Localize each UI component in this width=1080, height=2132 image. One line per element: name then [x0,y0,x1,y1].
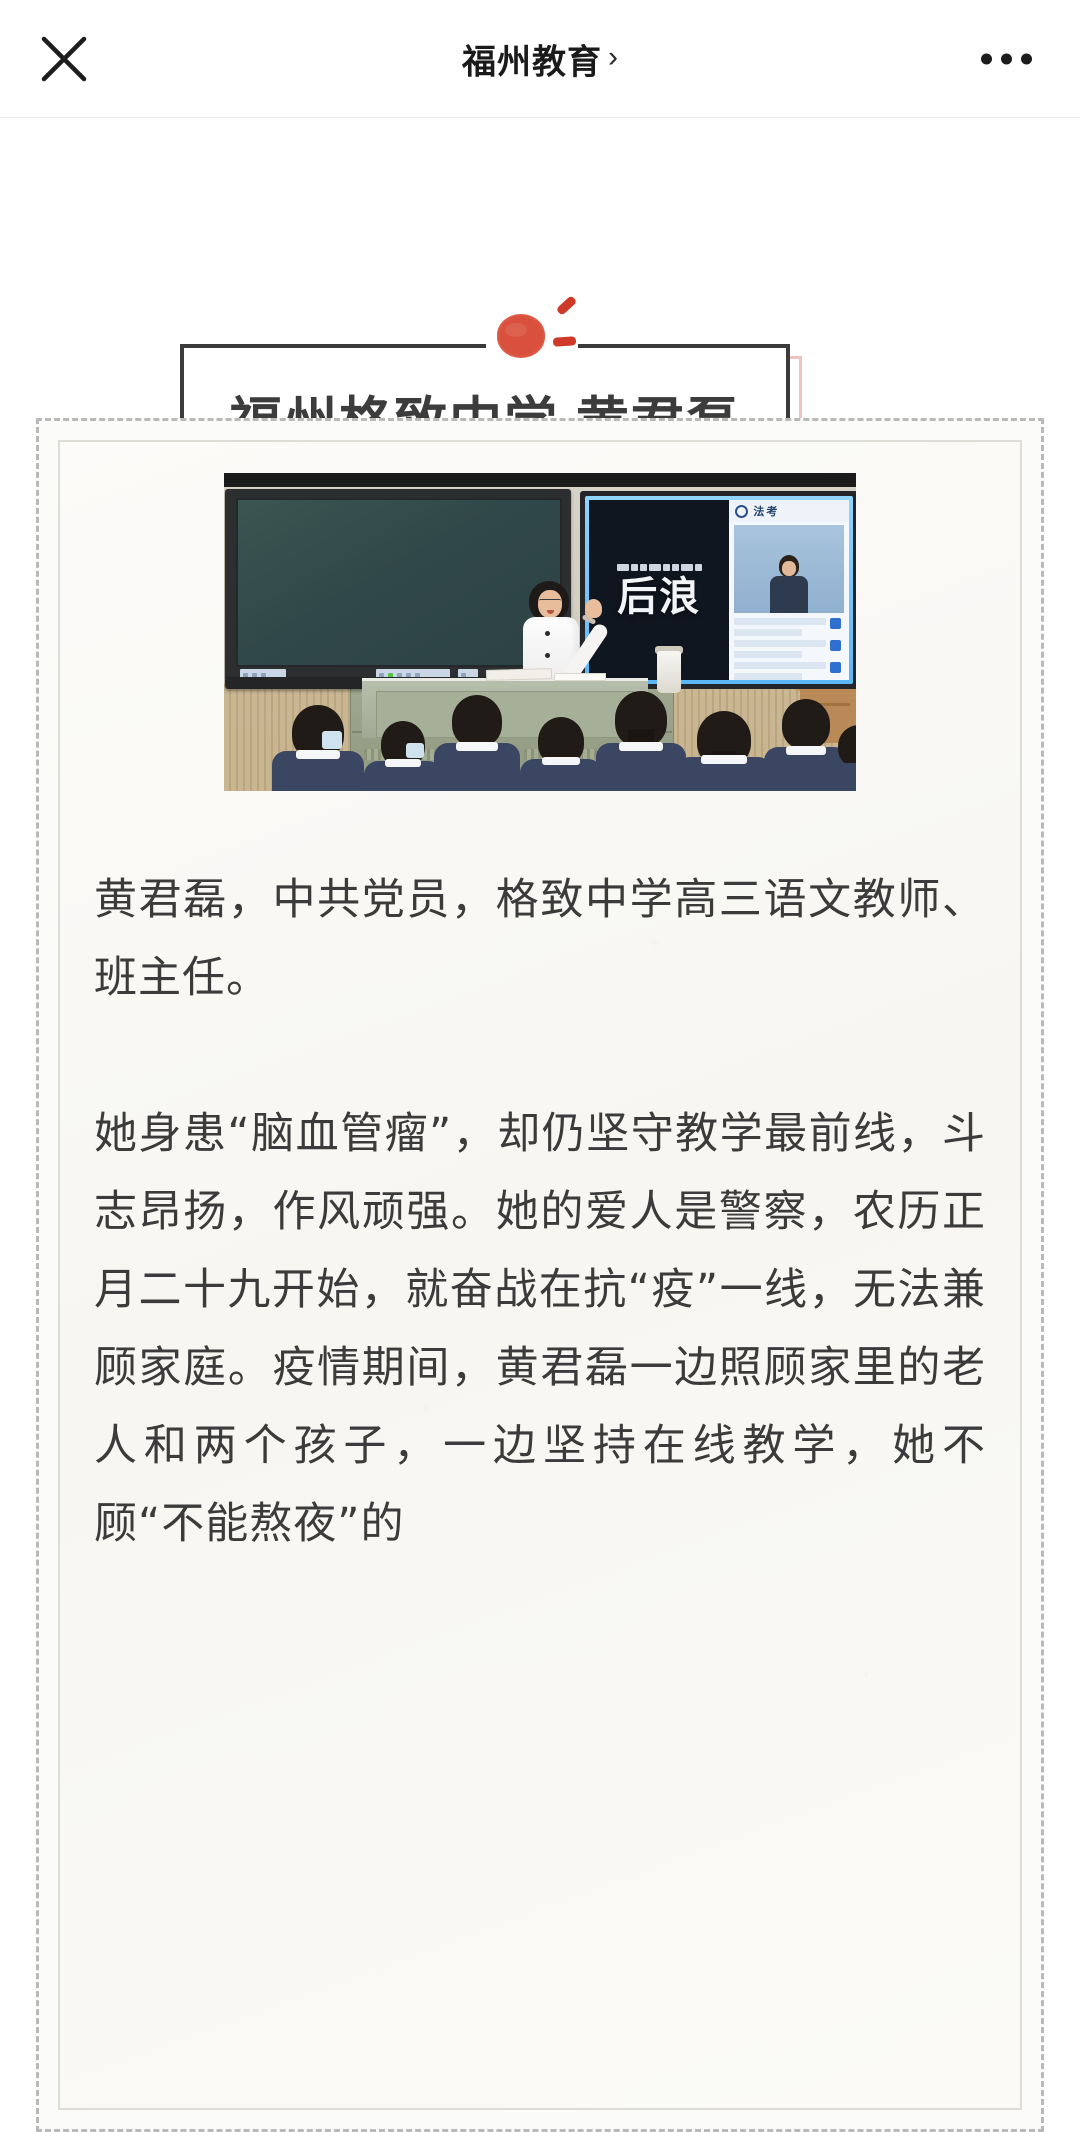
classroom-photo: 后浪 法考 [224,473,856,791]
photo-teacher-button-2 [545,653,550,658]
photo-student [364,721,442,791]
photo-teacher-hand [585,599,602,618]
photo-video-title: 法考 [753,503,779,519]
photo-students [224,679,856,791]
photo-video-thumb [734,525,844,613]
article-card: 后浪 法考 [36,418,1044,2132]
photo-video-pane: 法考 [729,500,849,680]
photo-video-logo-icon [735,505,748,518]
photo-slide-heading: 后浪 [617,577,701,617]
account-name: 福州教育 [462,34,602,83]
heading-block: 福州格致中学 黄君磊 [0,118,1080,420]
wechat-topbar: 福州教育 › [0,0,1080,118]
more-options-icon[interactable] [975,39,1038,78]
photo-slide-subtitle [617,564,702,571]
red-dash-upper-icon [556,295,578,316]
red-blotch-icon [497,314,545,358]
photo-video-header: 法考 [729,500,849,522]
dot-2 [1001,53,1012,64]
photo-student [596,691,686,791]
chevron-right-icon: › [608,43,618,73]
photo-teacher-glasses [539,599,561,604]
photo-student [272,705,364,791]
photo-video-speaker [768,555,810,613]
photo-student [676,711,772,791]
photo-interactive-display: 后浪 法考 [580,491,856,689]
article-card-inner: 后浪 法考 [58,440,1022,2110]
photo-student [824,725,856,791]
photo-video-textlines [734,618,844,676]
red-dash-lower-icon [553,336,577,347]
photo-teacher-button-1 [545,631,550,636]
dot-3 [1021,53,1032,64]
article-paragraph-1: 黄君磊，中共党员，格致中学高三语文教师、班主任。 [94,861,986,1017]
dot-1 [981,53,992,64]
photo-student [520,717,602,791]
article-paragraph-2: 她身患“脑血管瘤”，却仍坚守教学最前线，斗志昂扬，作风顽强。她的爱人是警察，农历… [94,1095,986,1563]
photo-student [434,695,520,791]
photo-display-screen: 后浪 法考 [589,500,849,680]
account-name-link[interactable]: 福州教育 › [0,34,1080,83]
photo-wall-top-trim [224,473,856,487]
